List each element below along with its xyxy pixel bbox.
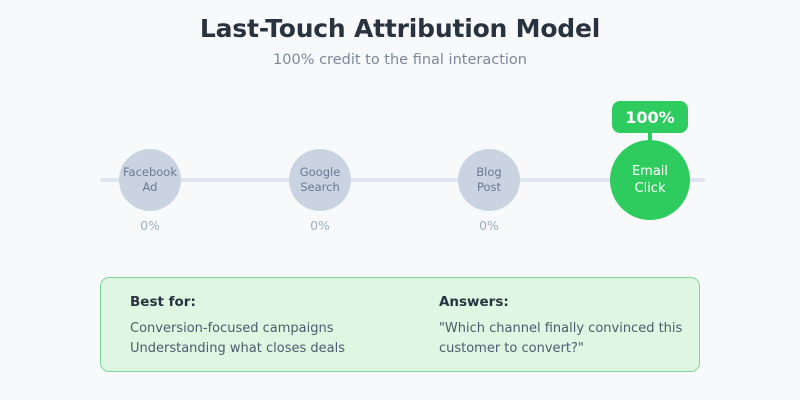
- best-for-line-1: Conversion-focused campaigns: [130, 319, 420, 339]
- node-label-line2: Search: [300, 180, 340, 195]
- answers-column: Answers: "Which channel finally convince…: [420, 278, 699, 371]
- journey-node-facebook-ad[interactable]: Facebook Ad 0%: [90, 90, 210, 250]
- node-circle[interactable]: Google Search: [289, 149, 351, 211]
- page-subtitle: 100% credit to the final interaction: [0, 43, 800, 68]
- info-panel: Best for: Conversion-focused campaigns U…: [100, 277, 700, 372]
- node-label-line1: Blog: [476, 165, 501, 180]
- node-label-line2: Click: [635, 180, 666, 197]
- journey-node-google-search[interactable]: Google Search 0%: [260, 90, 380, 250]
- answers-line-2: customer to convert?": [439, 339, 699, 359]
- node-label-line1: Email: [632, 163, 668, 180]
- credit-badge: 100%: [612, 101, 688, 133]
- answers-line-1: "Which channel finally convinced this: [439, 319, 699, 339]
- node-circle[interactable]: Facebook Ad: [119, 149, 181, 211]
- node-label-line1: Google: [300, 165, 341, 180]
- attribution-journey: Facebook Ad 0% Google Search 0% Blog Pos…: [0, 90, 800, 250]
- node-percent: 0%: [429, 218, 549, 233]
- node-percent: 0%: [260, 218, 380, 233]
- best-for-column: Best for: Conversion-focused campaigns U…: [101, 278, 420, 371]
- node-label-line2: Post: [477, 180, 501, 195]
- best-for-line-2: Understanding what closes deals: [130, 339, 420, 359]
- node-label-line1: Facebook: [123, 165, 177, 180]
- node-percent: 0%: [90, 218, 210, 233]
- page-title: Last-Touch Attribution Model: [0, 0, 800, 43]
- best-for-heading: Best for:: [130, 294, 420, 310]
- journey-node-email-click[interactable]: 100% Email Click: [590, 90, 710, 250]
- node-circle[interactable]: Blog Post: [458, 149, 520, 211]
- node-circle-highlighted[interactable]: Email Click: [610, 140, 690, 220]
- journey-node-blog-post[interactable]: Blog Post 0%: [429, 90, 549, 250]
- answers-heading: Answers:: [439, 294, 699, 310]
- node-label-line2: Ad: [143, 180, 158, 195]
- header: Last-Touch Attribution Model 100% credit…: [0, 0, 800, 68]
